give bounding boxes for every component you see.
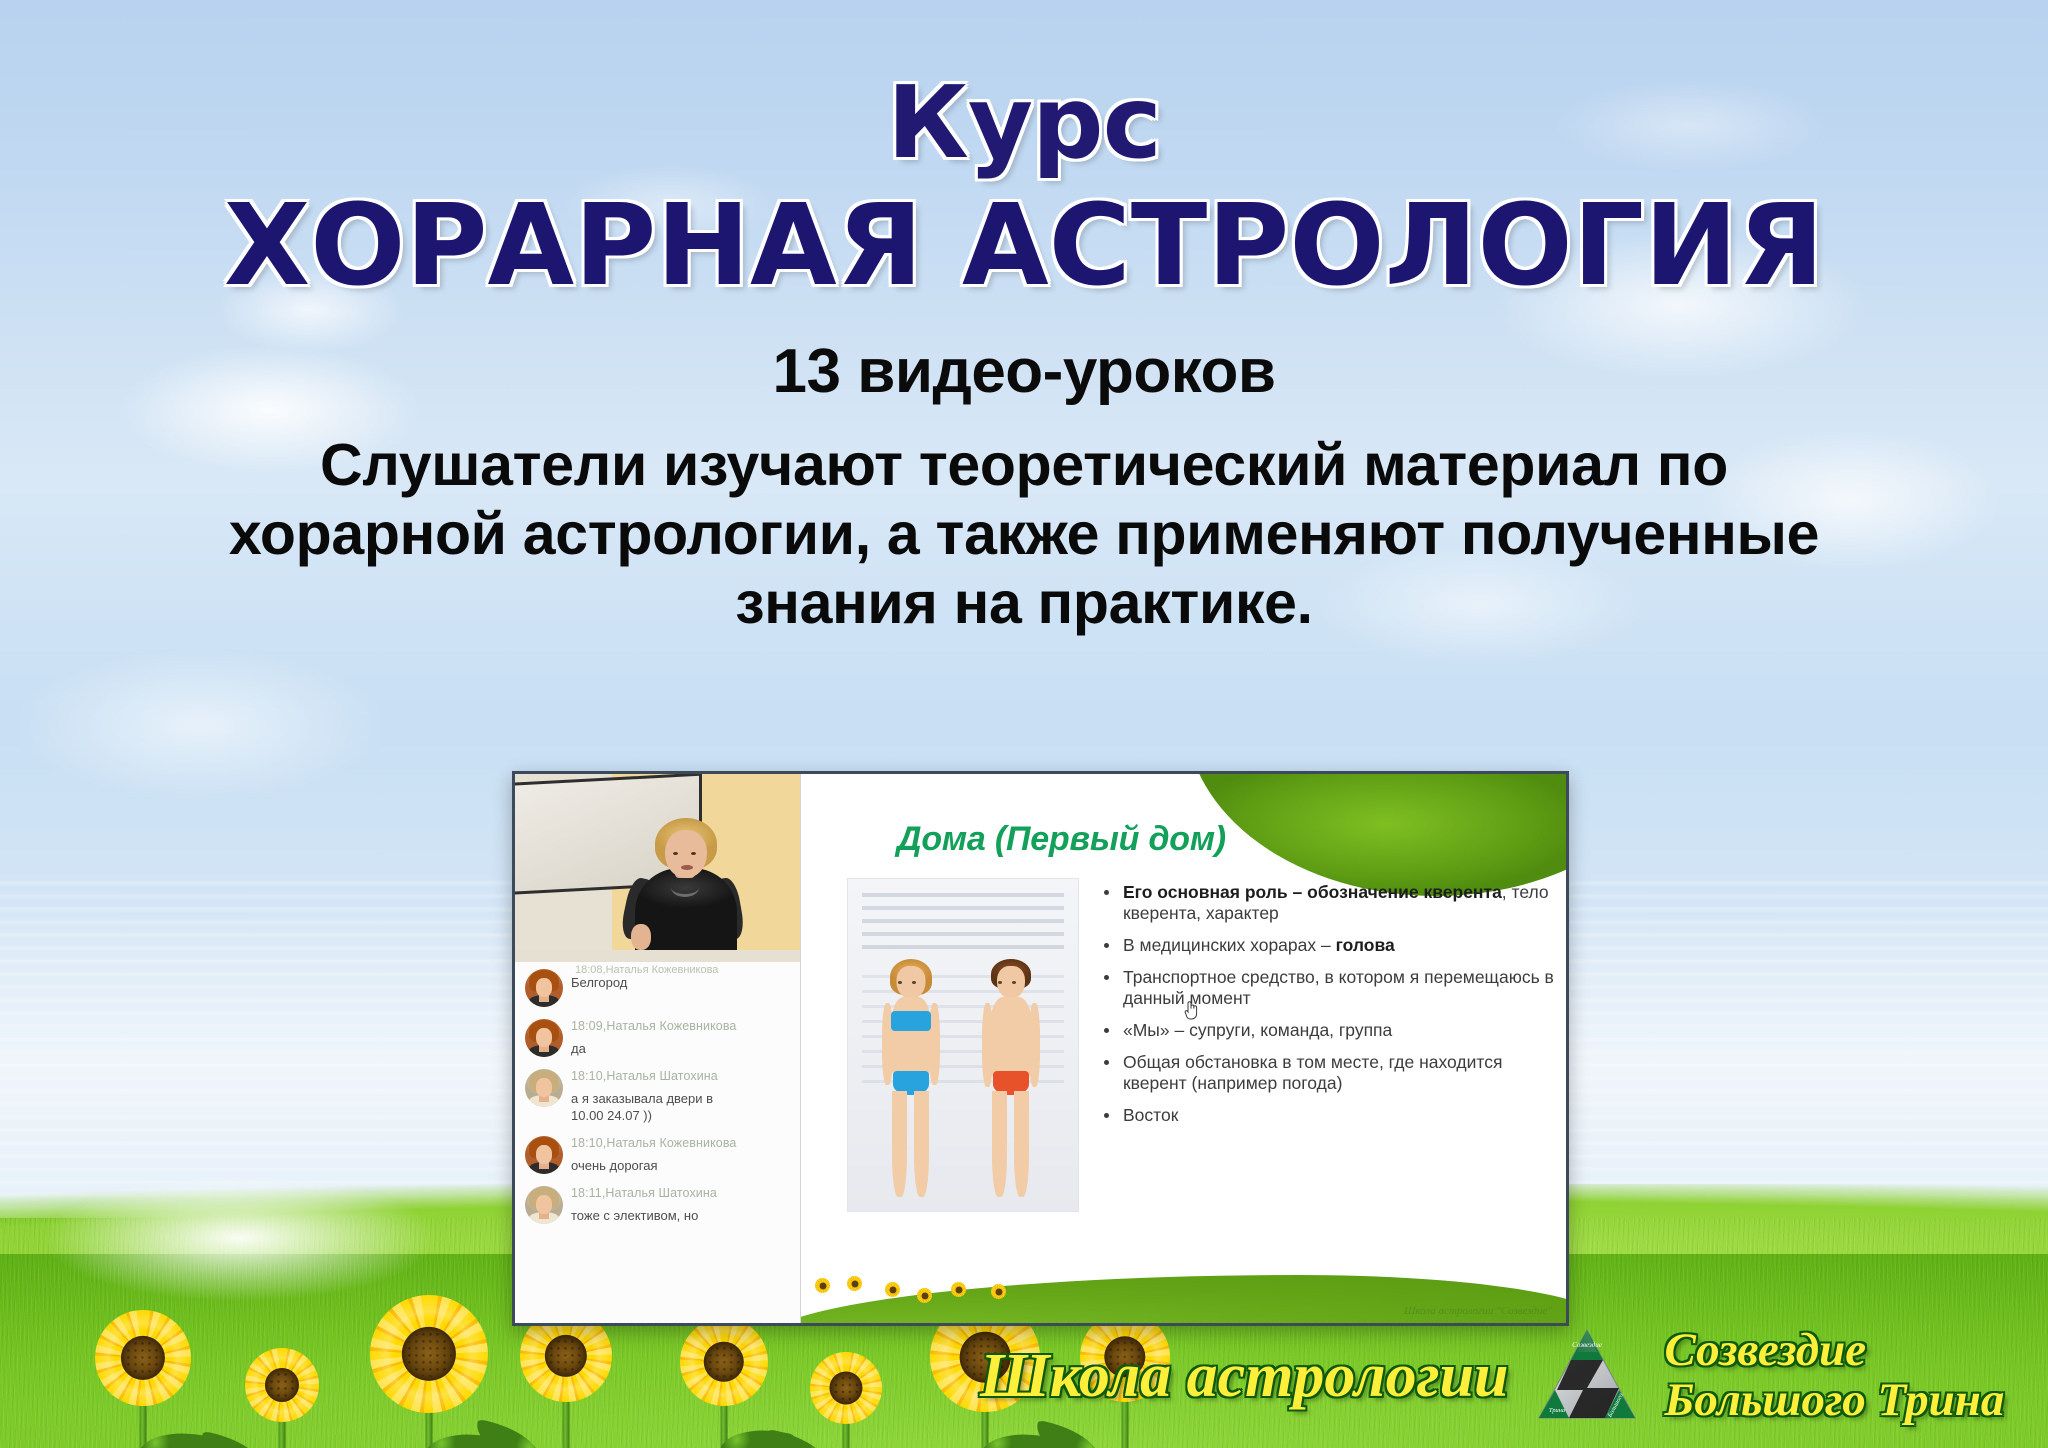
slide-green-arc-decoration	[1186, 774, 1566, 896]
avatar	[525, 1069, 563, 1107]
presenter-desk	[515, 950, 800, 962]
boy-eye-right	[1012, 981, 1016, 984]
bullet-text: Транспортное средство, в котором я перем…	[1123, 967, 1554, 1008]
chat-message-meta: 18:10,Наталья Шатохина	[571, 1069, 718, 1085]
presenter-mouth	[681, 865, 693, 870]
girl-eye-left	[898, 981, 902, 984]
slide-bullet: В медицинских хорарах – голова	[1097, 935, 1556, 956]
chat-message-text: очень дорогая	[571, 1157, 737, 1174]
lessons-count: 13 видео-уроков	[0, 336, 2048, 407]
chat-message-text: а я заказывала двери в 10.00 24.07 ))	[571, 1090, 718, 1124]
chat-message[interactable]: 18:11,Наталья Шатохинатоже с элективом, …	[519, 1179, 796, 1229]
slide-mini-sunflower	[991, 1284, 1006, 1299]
title-block: Курс ХОРАРНАЯ АСТРОЛОГИЯ 13 видео-уроков…	[0, 72, 2048, 638]
chat-message-text: тоже с элективом, но	[571, 1207, 717, 1224]
page-title: ХОРАРНАЯ АСТРОЛОГИЯ	[0, 190, 2048, 302]
avatar	[525, 1019, 563, 1057]
bullet-text: «Мы» – супруги, команда, группа	[1123, 1020, 1392, 1040]
brand-name-line-1: Созвездие	[1665, 1326, 2005, 1376]
slide-bullet: Его основная роль – обозначение кверента…	[1097, 882, 1556, 924]
avatar-face	[536, 1028, 552, 1047]
bullet-text: Общая обстановка в том месте, где находи…	[1123, 1052, 1502, 1093]
boy-eye-left	[998, 981, 1002, 984]
course-label: Курс	[0, 72, 2048, 174]
bullet-bold-tail: голова	[1336, 935, 1395, 955]
presenter-face	[665, 830, 707, 878]
presenter-webcam-pane	[515, 774, 800, 962]
chat-message[interactable]: 18:09,Наталья Кожевниковада	[519, 1012, 796, 1062]
sunflower-head	[95, 1310, 191, 1406]
presenter-figure	[627, 816, 745, 962]
diagram-caption-lines	[862, 893, 1064, 951]
penrose-triangle-logo-icon: Созвездие Большого Трина	[1535, 1328, 1639, 1424]
figure-girl	[874, 959, 948, 1203]
sunflower-center	[829, 1371, 862, 1404]
slide-watermark: Школа астрологии "Созвездие"	[1404, 1305, 1552, 1317]
avatar-face	[536, 1078, 552, 1097]
bullet-text: Восток	[1123, 1105, 1178, 1125]
chat-message-content: 18:11,Наталья Шатохинатоже с элективом, …	[571, 1186, 717, 1224]
slide-mini-sunflower	[885, 1282, 900, 1297]
figure-boy	[974, 959, 1048, 1203]
sunflower-center	[265, 1368, 299, 1402]
chat-message[interactable]: Белгород	[519, 962, 796, 1012]
sunflower	[520, 1310, 612, 1448]
chat-message-text: Белгород	[571, 974, 627, 991]
slide-bullet: Восток	[1097, 1105, 1556, 1126]
sunflower	[810, 1352, 882, 1448]
presenter-eye-right	[691, 852, 696, 855]
avatar	[525, 1136, 563, 1174]
sunflower-center	[121, 1336, 165, 1380]
slide-bullet-list: Его основная роль – обозначение кверента…	[1097, 882, 1556, 1137]
chat-message-content: 18:09,Наталья Кожевниковада	[571, 1019, 737, 1057]
presenter-hand	[631, 924, 651, 950]
slide-bullet: Общая обстановка в том месте, где находи…	[1097, 1052, 1556, 1094]
boy-leg-left	[992, 1091, 1007, 1197]
slide-title: Дома (Первый дом)	[897, 820, 1226, 859]
sunflower-head	[810, 1352, 882, 1424]
video-left-column: 18:08,Наталья Кожевникова Белгород18:09,…	[515, 774, 801, 1323]
avatar-face	[536, 1145, 552, 1164]
brand-name-line-2: Большого Трина	[1665, 1376, 2005, 1426]
avatar-face	[536, 1195, 552, 1214]
logo-word-bottom: Трина	[1548, 1407, 1564, 1414]
chat-message-meta: 18:11,Наталья Шатохина	[571, 1186, 717, 1202]
bullet-text: В медицинских хорарах –	[1123, 935, 1336, 955]
chat-message-content: 18:10,Наталья Шатохинаа я заказывала две…	[571, 1069, 718, 1124]
chat-message[interactable]: 18:10,Наталья Кожевниковаочень дорогая	[519, 1129, 796, 1179]
sunflower-head	[680, 1318, 768, 1406]
logo-word-top: Созвездие	[1572, 1341, 1602, 1349]
sunflower	[95, 1310, 191, 1448]
chat-message-content: 18:10,Наталья Кожевниковаочень дорогая	[571, 1136, 737, 1174]
slide-mini-sunflower	[847, 1276, 862, 1291]
slide-mini-sunflower	[951, 1282, 966, 1297]
girl-leg-left	[892, 1091, 907, 1197]
school-wordmark: Школа астрологии	[980, 1341, 1509, 1412]
sunflower	[370, 1295, 488, 1448]
course-description: Слушатели изучают теоретический материал…	[174, 431, 1874, 638]
poster-canvas: Курс ХОРАРНАЯ АСТРОЛОГИЯ 13 видео-уроков…	[0, 0, 2048, 1448]
chat-message[interactable]: 18:10,Наталья Шатохинаа я заказывала две…	[519, 1062, 796, 1129]
presenter-eye-left	[673, 852, 678, 855]
chat-message-meta: 18:09,Наталья Кожевникова	[571, 1019, 737, 1035]
sunflower	[245, 1348, 319, 1448]
chat-message-list[interactable]: Белгород18:09,Наталья Кожевниковада18:10…	[519, 962, 796, 1229]
girl-leg-right	[914, 1091, 929, 1197]
sunflower	[680, 1318, 768, 1448]
chat-panel[interactable]: 18:08,Наталья Кожевникова Белгород18:09,…	[515, 962, 800, 1323]
slide-body-diagram	[847, 878, 1079, 1212]
boy-arm-right	[1029, 1003, 1040, 1087]
lesson-video-screenshot[interactable]: 18:08,Наталья Кожевникова Белгород18:09,…	[512, 771, 1569, 1326]
brand-wordmark: Созвездие Большого Трина	[1665, 1326, 2005, 1426]
bullet-bold: Его основная роль – обозначение кверента	[1123, 882, 1502, 902]
avatar-face	[536, 978, 552, 997]
chat-message-meta: 18:10,Наталья Кожевникова	[571, 1136, 737, 1152]
slide-bullet: Транспортное средство, в котором я перем…	[1097, 967, 1556, 1009]
sunflower-head	[245, 1348, 319, 1422]
slide-mini-sunflower	[917, 1288, 932, 1303]
footer-branding: Школа астрологии Созвездие Бо	[980, 1326, 2004, 1426]
avatar	[525, 969, 563, 1007]
cloud-decoration	[0, 620, 460, 830]
presenter-necklace	[671, 878, 699, 897]
chat-message-content: Белгород	[571, 969, 627, 991]
shared-slide-pane: Дома (Первый дом)	[801, 774, 1566, 1323]
slide-mini-sunflower	[815, 1278, 830, 1293]
boy-leg-right	[1014, 1091, 1029, 1197]
chat-message-text: да	[571, 1040, 737, 1057]
avatar	[525, 1186, 563, 1224]
girl-eye-right	[912, 981, 916, 984]
sunflower-head	[370, 1295, 488, 1413]
girl-top	[891, 1011, 931, 1031]
boy-arm-left	[982, 1003, 993, 1087]
slide-bullet: «Мы» – супруги, команда, группа	[1097, 1020, 1556, 1041]
